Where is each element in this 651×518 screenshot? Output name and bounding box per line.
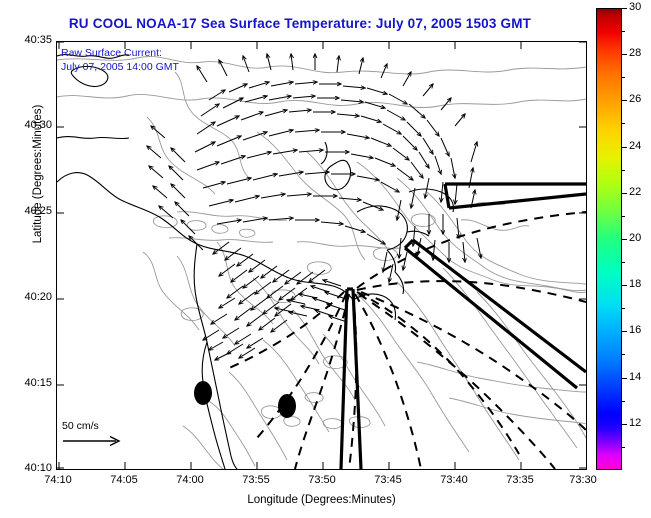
colorbar-tick-label: 22 (629, 186, 641, 198)
y-axis: 40:35 40:30 40:25 40:20 40:15 40:10 (0, 41, 52, 470)
colorbar-tick-label: 20 (629, 232, 641, 244)
colorbar-tick-label: 14 (629, 371, 641, 383)
x-axis: 74:10 74:05 74:00 73:55 73:50 73:45 73:4… (56, 474, 587, 490)
scale-bar: 50 cm/s (62, 420, 124, 447)
colorbar-tick-label: 26 (629, 93, 641, 105)
colorbar-tick-label: 18 (629, 278, 641, 290)
x-tick-label: 73:50 (292, 474, 352, 486)
y-tick-label: 40:30 (8, 119, 52, 131)
x-tick-label: 74:00 (160, 474, 220, 486)
colorbar-tick-label: 30 (629, 1, 641, 13)
x-tick-label: 73:55 (226, 474, 286, 486)
figure-canvas: RU COOL NOAA-17 Sea Surface Temperature:… (0, 0, 651, 518)
colorbar-tick (622, 331, 627, 332)
x-tick-label: 74:05 (94, 474, 154, 486)
scale-bar-label: 50 cm/s (62, 420, 124, 432)
colorbar-minor-tick (622, 354, 625, 355)
colorbar-minor-tick (622, 401, 625, 402)
colorbar-tick (622, 239, 627, 240)
colorbar-minor-tick (622, 447, 625, 448)
colorbar-tick-label: 12 (629, 417, 641, 429)
colorbar-tick-label: 24 (629, 140, 641, 152)
y-tick-label: 40:10 (8, 462, 52, 474)
colorbar-minor-tick (622, 123, 625, 124)
x-tick-label: 73:40 (424, 474, 484, 486)
shipping-lanes (341, 184, 586, 469)
colorbar-tick (622, 54, 627, 55)
colorbar-minor-tick (622, 77, 625, 78)
map-plot-area[interactable]: Raw Surface Current: July 07, 2005 14:00… (56, 41, 587, 470)
colorbar-tick (622, 8, 627, 9)
y-axis-label: Latitude (Degrees:Minutes) (32, 84, 44, 264)
y-tick-label: 40:25 (8, 205, 52, 217)
y-tick-label: 40:20 (8, 291, 52, 303)
colorbar-minor-tick (622, 262, 625, 263)
scale-bar-arrow-icon (62, 435, 124, 447)
colorbar-tick (622, 193, 627, 194)
bathymetry-contours (57, 56, 586, 469)
colorbar-minor-tick (622, 31, 625, 32)
colorbar-gradient (596, 8, 622, 470)
colorbar-minor-tick (622, 308, 625, 309)
raw-current-line2: July 07, 2005 14:00 GMT (61, 61, 179, 75)
x-axis-label: Longitude (Degrees:Minutes) (56, 494, 587, 506)
y-tick-label: 40:35 (8, 34, 52, 46)
raw-current-annotation: Raw Surface Current: July 07, 2005 14:00… (61, 47, 179, 74)
x-tick-label: 74:10 (28, 474, 88, 486)
x-tick-label: 73:30 (553, 474, 613, 486)
x-tick-label: 73:35 (490, 474, 550, 486)
figure-title: RU COOL NOAA-17 Sea Surface Temperature:… (0, 16, 600, 31)
colorbar-minor-tick (622, 216, 625, 217)
colorbar-minor-tick (622, 170, 625, 171)
x-tick-label: 73:45 (358, 474, 418, 486)
axis-tick-marks (57, 42, 586, 469)
y-tick-label: 40:15 (8, 377, 52, 389)
map-graphics (57, 42, 586, 469)
colorbar-tick-label: 28 (629, 47, 641, 59)
colorbar-tick (622, 424, 627, 425)
colorbar-tick (622, 378, 627, 379)
raw-current-line1: Raw Surface Current: (61, 47, 179, 61)
colorbar: 30 28 26 24 22 20 18 16 14 12 (596, 8, 622, 470)
colorbar-tick (622, 147, 627, 148)
colorbar-tick (622, 100, 627, 101)
colorbar-tick-label: 16 (629, 324, 641, 336)
colorbar-tick (622, 285, 627, 286)
